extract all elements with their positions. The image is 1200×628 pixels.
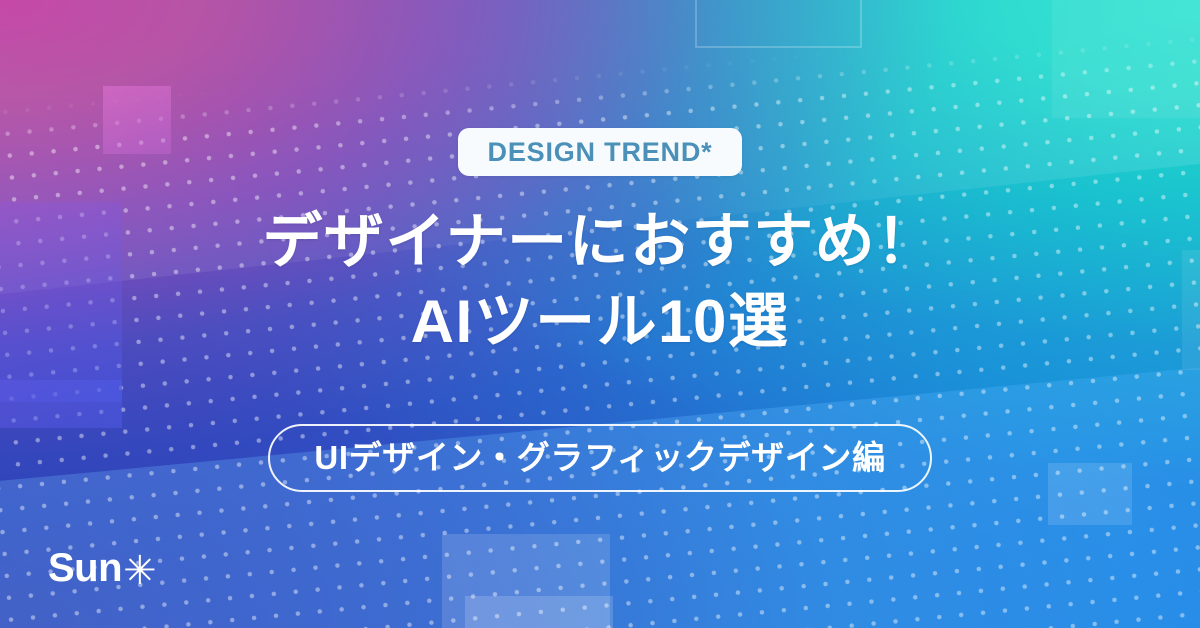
headline-line-2: AIツール10選: [262, 282, 937, 362]
asterisk-icon: ✳: [123, 551, 156, 591]
page-title: デザイナーにおすすめ！ AIツール10選: [262, 202, 937, 362]
banner-content: DESIGN TREND* デザイナーにおすすめ！ AIツール10選 UIデザイ…: [0, 0, 1200, 628]
headline-line-1: デザイナーにおすすめ！: [262, 202, 937, 282]
design-trend-banner: DESIGN TREND* デザイナーにおすすめ！ AIツール10選 UIデザイ…: [0, 0, 1200, 628]
eyebrow-label: DESIGN TREND*: [488, 139, 713, 166]
subtitle-badge: UIデザイン・グラフィックデザイン編: [268, 424, 931, 492]
logo-wordmark: Sun: [48, 546, 122, 591]
eyebrow-badge: DESIGN TREND*: [458, 128, 743, 176]
subtitle-label: UIデザイン・グラフィックデザイン編: [314, 441, 885, 474]
brand-logo: Sun ✳: [48, 546, 156, 591]
